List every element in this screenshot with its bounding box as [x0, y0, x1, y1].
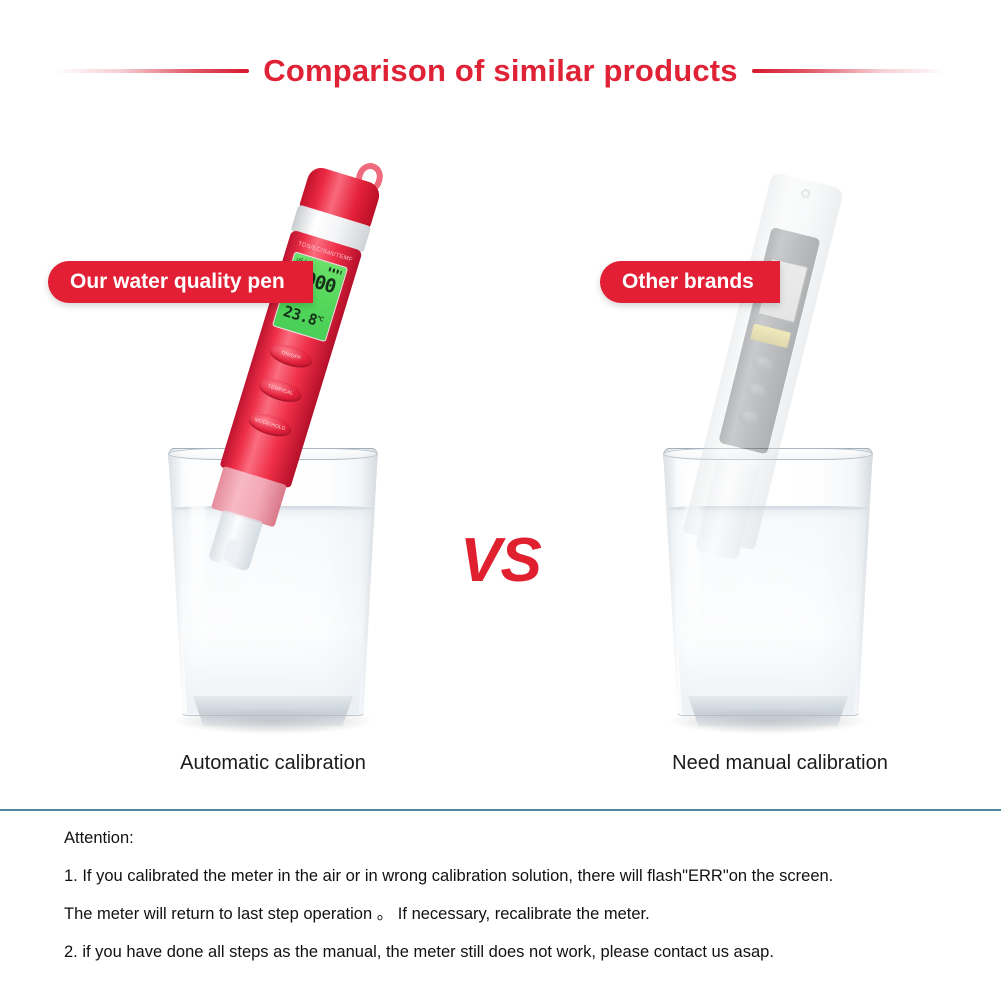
product-comparison-infographic: Comparison of similar products TDS/EC/Sa…: [0, 0, 1001, 1001]
note-line-2: The meter will return to last step opera…: [64, 904, 964, 924]
caption-automatic-calibration: Automatic calibration: [103, 752, 443, 775]
section-divider: [0, 809, 1001, 811]
lcd-temperature-value: 23.8℃: [281, 302, 330, 333]
glass-base-left: [186, 696, 360, 726]
page-title-row: Comparison of similar products: [0, 48, 1001, 94]
notes-heading: Attention:: [64, 828, 964, 848]
title-rule-left: [54, 69, 249, 73]
note-line-1: 1. If you calibrated the meter in the ai…: [64, 866, 964, 886]
versus-label: VS: [0, 525, 1001, 596]
lcd-temperature-unit: ℃: [316, 315, 324, 324]
badge-our-water-quality-pen: Our water quality pen: [48, 261, 313, 303]
glass-base-right: [681, 696, 855, 726]
page-title: Comparison of similar products: [263, 53, 738, 89]
caption-need-manual-calibration: Need manual calibration: [610, 752, 950, 775]
badge-other-brands: Other brands: [600, 261, 780, 303]
lcd-temperature-number: 23.8: [281, 302, 319, 329]
attention-notes: Attention: 1. If you calibrated the mete…: [64, 828, 964, 962]
note-line-3: 2. if you have done all steps as the man…: [64, 942, 964, 962]
title-rule-right: [752, 69, 947, 73]
